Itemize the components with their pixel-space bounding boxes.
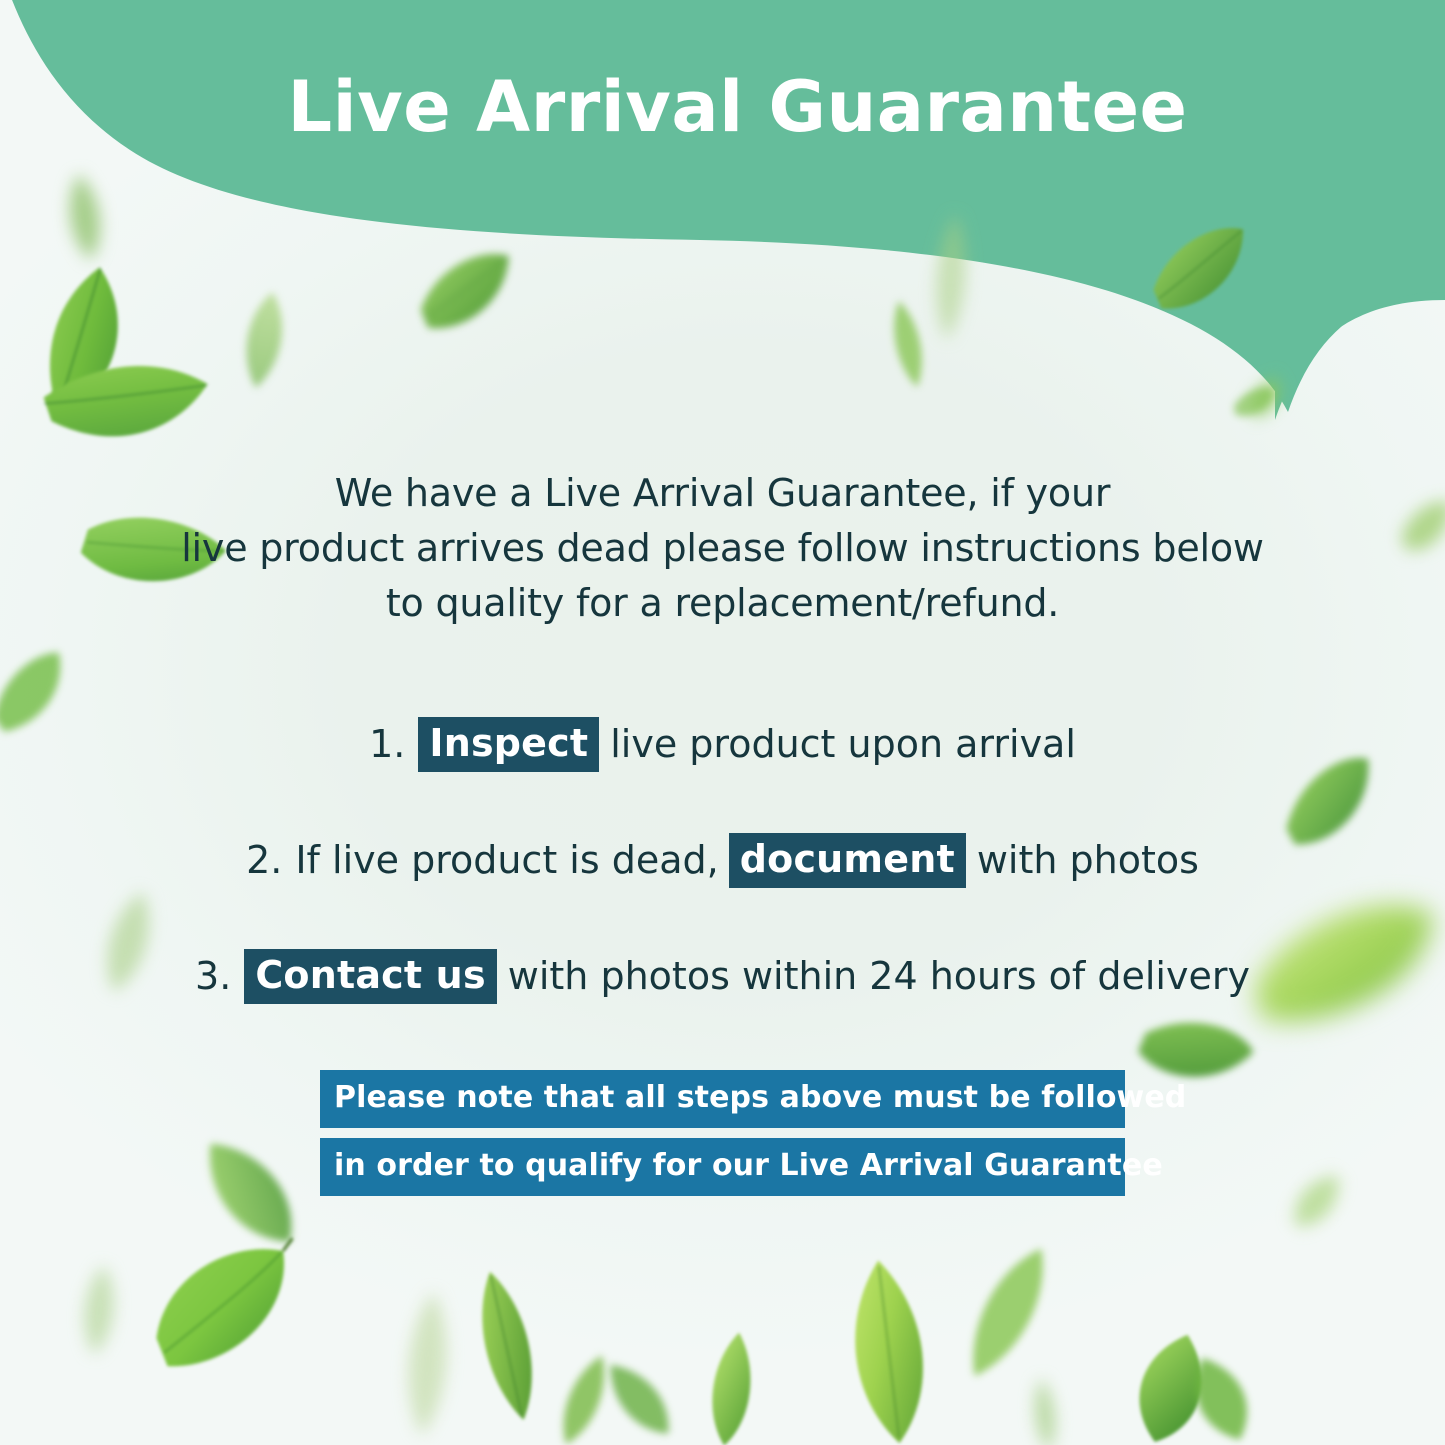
leaf-icon	[0, 253, 171, 429]
leaf-icon	[0, 640, 90, 745]
leaf-icon	[134, 1232, 323, 1390]
leaf-icon	[21, 296, 224, 499]
leaf-icon	[1102, 1317, 1237, 1445]
leaf-icon	[1274, 1157, 1360, 1245]
step-number: 1.	[369, 725, 405, 763]
leaf-icon	[1393, 494, 1445, 563]
steps-list: 1. Inspect live product upon arrival 2. …	[0, 686, 1445, 1034]
leaf-icon	[84, 882, 172, 1004]
leaf-icon	[543, 1345, 625, 1445]
step-highlight-inspect: Inspect	[418, 717, 599, 772]
leaf-icon	[1264, 743, 1398, 864]
leaf-icon	[73, 1260, 125, 1362]
notes-section: Please note that all steps above must be…	[0, 1070, 1445, 1196]
note-line-2: in order to qualify for our Live Arrival…	[320, 1138, 1125, 1196]
leaf-icon	[66, 487, 240, 628]
note-line-1: Please note that all steps above must be…	[320, 1070, 1125, 1128]
leaf-icon	[1162, 1339, 1280, 1445]
leaf-icon	[170, 1111, 330, 1277]
leaf-icon	[822, 1253, 951, 1445]
leaf-icon	[227, 282, 301, 400]
live-arrival-guarantee-poster: Live Arrival Guarantee We have a Live Ar…	[0, 0, 1445, 1445]
header-green-blob	[0, 0, 1445, 420]
leaf-icon	[454, 1262, 557, 1432]
intro-line-1: We have a Live Arrival Guarantee, if you…	[0, 466, 1445, 521]
leaf-icon	[56, 167, 115, 268]
poster-content: We have a Live Arrival Guarantee, if you…	[0, 0, 1445, 1445]
step-text: with photos	[977, 841, 1199, 879]
step-item-3: 3. Contact us with photos within 24 hour…	[0, 918, 1445, 1034]
leaf-icon	[937, 1228, 1076, 1397]
leaf-icon	[583, 1341, 697, 1445]
step-number: 2.	[246, 841, 282, 879]
leaf-icon	[881, 295, 935, 392]
step-highlight-contact-us: Contact us	[244, 949, 496, 1004]
intro-line-3: to quality for a replacement/refund.	[0, 576, 1445, 631]
leaf-icon	[925, 211, 976, 346]
page-title: Live Arrival Guarantee	[0, 72, 1445, 142]
leaf-icon	[392, 1288, 463, 1442]
intro-line-2: live product arrives dead please follow …	[0, 521, 1445, 576]
step-text: live product upon arrival	[610, 725, 1076, 763]
intro-paragraph: We have a Live Arrival Guarantee, if you…	[0, 466, 1445, 631]
leaf-icon	[1232, 386, 1276, 422]
step-item-1: 1. Inspect live product upon arrival	[0, 686, 1445, 802]
leaf-icon	[1240, 373, 1295, 427]
leaf-icon	[405, 242, 530, 347]
leaf-icon	[1136, 215, 1268, 328]
step-item-2: 2. If live product is dead, document wit…	[0, 802, 1445, 918]
leaf-icon	[692, 1326, 770, 1445]
step-text: with photos within 24 hours of delivery	[508, 957, 1250, 995]
step-text-before: If live product is dead,	[295, 841, 718, 879]
step-number: 3.	[195, 957, 231, 995]
leaf-icon	[1240, 889, 1445, 1047]
step-highlight-document: document	[729, 833, 966, 888]
leaf-icon	[1026, 1375, 1064, 1445]
leaf-icon	[1123, 987, 1264, 1119]
